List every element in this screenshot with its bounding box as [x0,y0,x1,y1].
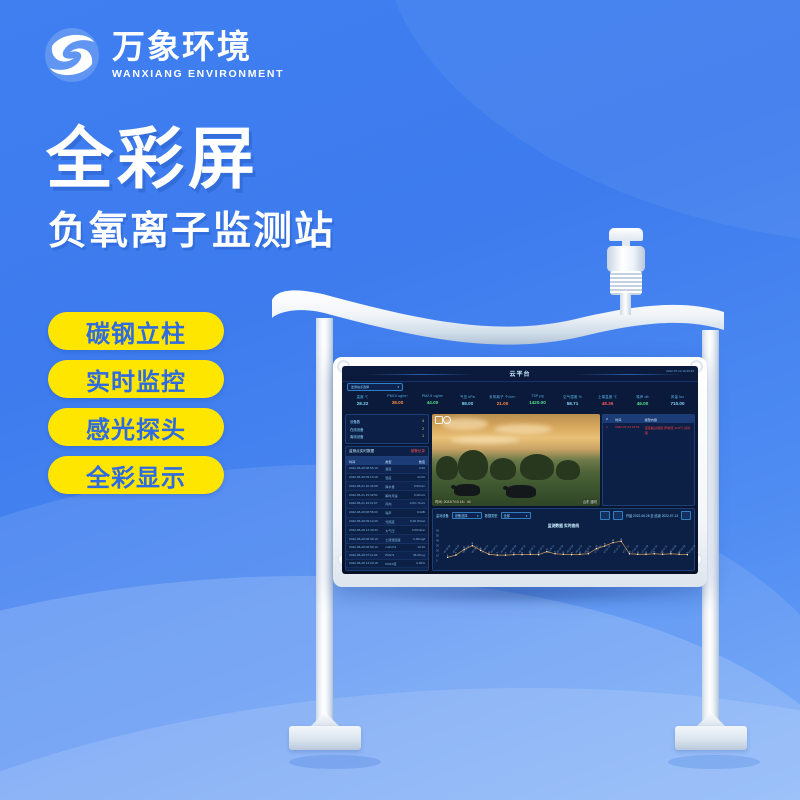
table-cell: 风向 [385,501,406,506]
table-cell: 0.00% [406,570,425,571]
cloud-shape [494,424,552,434]
metric-card: 温度 ℃ 28.32 [345,394,380,406]
svg-text:30: 30 [604,544,606,546]
table-cell: 0.00% [406,561,425,566]
stat-label: 设备数 [350,419,360,424]
led-display-panel: 云平台 2022-07-13 16:40:25 监测站点选择 ▾ 温度 ℃ 28… [333,357,707,587]
metric-card: PM10 ug/m³ 38.00 [380,394,415,406]
tree-shape [490,458,516,480]
base-plate-left [289,726,361,750]
metric-label: TSP μg [520,394,555,398]
steel-post-left [316,318,333,730]
dashboard-header: 云平台 2022-07-13 16:40:25 [342,366,698,382]
table-body: 2022-06-28 08:53:19温度0.002022-06-28 09:1… [346,465,428,571]
chart-toolbar: 监测设备 设备选择 ▾ 数据类型 全部 ▾ [433,509,694,522]
metric-label: 空气湿度 % [555,394,590,399]
table-header-row: 时间 类型 数值 [346,457,428,465]
table-cell: 2022-06-28 08:56:00 [349,510,385,515]
alarm-column-index: # [606,417,615,422]
table-row[interactable]: 2022-06-28 07:11:04PM2.546.00 ug [346,552,428,560]
tree-shape [556,460,580,480]
table-cell: 2022-06-28 07:11:04 [349,553,385,557]
stat-label: 在线设备 [350,427,364,432]
table-cell: 负氧离子 [385,570,406,571]
metric-label: PM10 ug/m³ [380,394,415,398]
device-select-value: 设备选择 [455,513,468,518]
table-cell: 2022-06-28 08:53:19 [349,466,385,471]
column-header-type: 类型 [385,459,406,464]
dashboard-screen: 云平台 2022-07-13 16:40:25 监测站点选择 ▾ 温度 ℃ 28… [342,366,698,574]
chart-line-svg: 4922312011991010111017121110111224303841… [446,531,689,561]
realtime-data-panel: 监测点实时数据 报警记录 时间 类型 数值 2022-06-28 08:53:1… [345,446,429,571]
realtime-data-header: 监测点实时数据 报警记录 [346,447,428,457]
y-tick-label: 10 [436,555,439,558]
sensor-louvers [610,271,642,295]
metric-label: 温度 ℃ [345,394,380,399]
dashboard-body: 设备数 4 在线设备 2 离线设备 1 [342,412,698,574]
tree-shape [436,456,458,480]
table-cell: 瞬时风速 [385,493,406,498]
alarm-time: 2022-07-13 13:51 [615,425,645,435]
camera-feed[interactable]: 时间: 2022/7/13 16：40 山东 潍坊 [432,414,600,506]
metric-label: 负氧离子 个/cm³ [485,394,520,399]
y-tick-label: 30 [436,545,439,548]
cloud-shape [450,436,520,444]
chevron-down-icon: ▾ [397,385,399,389]
table-row[interactable]: 2022-06-21 16:11:07风向0.00 / 0m/s [346,500,428,509]
table-cell: 2022-06-28 08:36:10 [349,537,385,542]
table-cell: co2/ch4 [385,545,406,549]
table-cell: 2022-06-21 10:44:08 [349,484,385,489]
svg-text:41: 41 [620,539,622,541]
table-cell: 2022-06-28 13:44:36 [349,570,385,571]
metric-value: 38.00 [380,400,415,405]
cow-shape [454,484,480,496]
site-select-dropdown[interactable]: 监测站点选择 ▾ [347,383,403,391]
date-range-label: 开始 2022-06-28 至 结束 2022-07-13 [626,513,678,518]
table-row[interactable]: 2022-06-21 15:32:51瞬时风速0.00m/s [346,491,428,500]
table-cell: 2022-06-28 08:50:12 [349,545,385,549]
metric-value: 58.71 [555,401,590,406]
header-rule-right [574,374,684,375]
device-stats-panel: 设备数 4 在线设备 2 离线设备 1 [345,414,429,444]
tree-shape [458,450,488,480]
svg-text:31: 31 [472,543,474,545]
metric-value: 98.00 [450,401,485,406]
metric-value: 710.00 [660,401,695,406]
metric-label: PM2.5 ug/m³ [415,394,450,398]
promo-poster: 万象环境 WANXIANG ENVIRONMENT 全彩屏 负氧离子监测站 碳钢… [0,0,800,800]
search-button[interactable] [681,511,691,520]
y-tick-label: 20 [436,549,439,552]
metric-label: 气压 kPa [450,394,485,399]
video-timestamp: 时间: 2022/7/13 16：40 [435,499,471,504]
column-header-time: 时间 [349,459,385,464]
table-row[interactable]: 2022-06-28 13:44:36负氧离子0.00% [346,568,428,571]
record-icon[interactable] [443,416,451,424]
refresh-button[interactable] [613,511,623,520]
y-tick-label: 0 [436,560,437,563]
table-cell: 0.00 / 0m/s [406,501,425,506]
table-row[interactable]: 2022-06-21 10:44:08降水量0.00mm [346,482,428,491]
table-cell: 0.00m/s [406,493,425,498]
svg-text:38: 38 [612,540,614,542]
table-cell: 2022-06-28 09:13:18 [349,475,385,480]
x-tick-label: 07-03 11 [697,545,698,554]
table-cell: 温度 [385,466,406,471]
table-row[interactable]: 2022-06-28 09:13:18湿度42.00 [346,474,428,483]
chart-x-axis: 06-28 0806-28 0906-28 1006-28 1106-28 12… [443,552,692,555]
metric-value: 48.36 [590,401,625,406]
metric-value: 46.00 [625,401,660,406]
metric-card: 负氧离子 个/cm³ 21.00 [485,394,520,406]
dashboard-right-column: 时间: 2022/7/13 16：40 山东 潍坊 # 时间 报警内容 1 [432,414,695,571]
header-rule-left [366,374,476,375]
table-row[interactable]: 2022-06-28 09:12:40光照度0.00 W/m2 [346,518,428,527]
video-and-alarm-row: 时间: 2022/7/13 16：40 山东 潍坊 # 时间 报警内容 1 [432,414,695,506]
weather-sensor-icon [604,228,648,304]
alarm-content: 温度超过阈值 异常值 32.5℃ 请处理 [645,425,691,435]
type-select[interactable]: 全部 ▾ [501,512,531,519]
table-cell: 42.00 [406,475,425,480]
base-plate-right [675,726,747,750]
table-cell: 大气压 [385,528,406,533]
metric-card: 空气湿度 % 58.71 [555,394,590,406]
table-cell: 2022-06-28 13:40:33 [349,528,385,533]
table-cell: 0.00 W/m2 [406,519,425,524]
y-tick-label: 60 [436,530,439,533]
alarm-header-row: # 时间 报警内容 [603,415,694,423]
table-cell: 0.00mbar [406,528,425,533]
table-cell: 2022-06-28 13:20:18 [349,561,385,566]
table-cell: PM2.5 [385,553,406,557]
y-tick-label: 50 [436,534,439,537]
y-tick-label: 40 [436,539,439,542]
chevron-down-icon: ▾ [526,514,528,518]
alarm-column-content: 报警内容 [645,417,691,422]
stat-row: 离线设备 1 [350,433,424,440]
metric-card: 风量 lux 710.00 [660,394,695,406]
cow-shape [506,485,536,498]
metric-card: PM2.5 ug/m³ 44.00 [415,394,450,406]
table-cell: 0.0dB [406,510,425,515]
trend-chart: 监测数据 实时曲线 6050403020100 4922312011991010… [433,522,694,570]
svg-text:4: 4 [447,555,448,557]
video-watermark: 山东 潍坊 [583,499,598,504]
table-cell: 0.45mg/l [406,537,425,542]
metric-card: 噪声 db 46.00 [625,394,660,406]
alarm-records-link[interactable]: 报警记录 [411,449,425,454]
chart-section: 监测设备 设备选择 ▾ 数据类型 全部 ▾ [432,508,695,571]
metric-label: 土壤温度 ℃ [590,394,625,399]
metric-card: 土壤温度 ℃ 48.36 [590,394,625,406]
table-cell: 光照度 [385,519,406,524]
alarm-panel: # 时间 报警内容 1 2022-07-13 13:51 温度超过阈值 异常值 … [602,414,695,506]
table-cell: 46.00 ug [406,553,425,557]
metric-value: 1420.00 [520,400,555,405]
metric-card: TSP μg 1420.00 [520,394,555,406]
table-row[interactable]: 2022-06-28 08:53:19温度0.00 [346,465,428,474]
table-cell: PM10值 [385,561,406,566]
table-cell: 湿度 [385,475,406,480]
tree-shape [520,454,554,480]
alarm-column-time: 时间 [615,417,645,422]
table-cell: 噪声 [385,510,406,515]
metric-value: 21.00 [485,401,520,406]
realtime-data-title: 监测点实时数据 [349,449,374,454]
metric-strip: 温度 ℃ 28.32 PM10 ug/m³ 38.00 PM2.5 ug/m³ … [342,394,698,406]
export-button[interactable] [600,511,610,520]
metric-label: 风量 lux [660,394,695,399]
metric-value: 28.32 [345,401,380,406]
table-cell: 0.00 [406,466,425,471]
table-row[interactable]: 2022-06-28 08:50:12co2/ch410.15 [346,544,428,552]
site-select-value: 监测站点选择 [351,385,369,389]
table-cell: 2022-06-21 15:32:51 [349,493,385,498]
column-header-value: 数值 [406,459,425,464]
table-row[interactable]: 2022-06-28 08:56:00噪声0.0dB [346,509,428,518]
stat-value: 4 [422,419,424,424]
stat-value: 2 [422,427,424,432]
dashboard-left-column: 设备数 4 在线设备 2 离线设备 1 [345,414,429,571]
curved-canopy-icon [272,290,724,344]
table-row[interactable]: 2022-06-28 08:36:10土壤温湿度0.45mg/l [346,535,428,544]
type-filter-label: 数据类型 [485,513,498,518]
table-row[interactable]: 2022-06-28 13:40:33大气压0.00mbar [346,526,428,535]
alarm-row[interactable]: 1 2022-07-13 13:51 温度超过阈值 异常值 32.5℃ 请处理 [603,423,694,436]
stat-row: 设备数 4 [350,418,424,425]
stat-value: 1 [422,434,424,439]
dashboard-title: 云平台 [509,369,530,378]
table-cell: 2022-06-21 16:11:07 [349,501,385,506]
metric-value: 44.00 [415,400,450,405]
table-cell: 0.00mm [406,484,425,489]
type-select-value: 全部 [504,513,510,518]
chart-title: 监测数据 实时曲线 [436,524,691,529]
metric-card: 气压 kPa 98.00 [450,394,485,406]
table-cell: 2022-06-28 09:12:40 [349,519,385,524]
stat-row: 在线设备 2 [350,425,424,432]
table-cell: 土壤温湿度 [385,537,406,542]
metric-label: 噪声 db [625,394,660,399]
table-cell: 10.15 [406,545,425,549]
sensor-body [607,246,645,272]
alarm-index: 1 [606,425,615,435]
stat-label: 离线设备 [350,434,364,439]
device-filter-label: 监测设备 [436,513,449,518]
table-row[interactable]: 2022-06-28 13:20:18PM10值0.00% [346,560,428,569]
snapshot-icon[interactable] [435,416,443,424]
sensor-stem [620,293,631,315]
dashboard-clock: 2022-07-13 16:40:25 [666,369,694,373]
table-cell: 降水量 [385,484,406,489]
device-select[interactable]: 设备选择 ▾ [452,512,482,519]
chevron-down-icon: ▾ [477,514,479,518]
